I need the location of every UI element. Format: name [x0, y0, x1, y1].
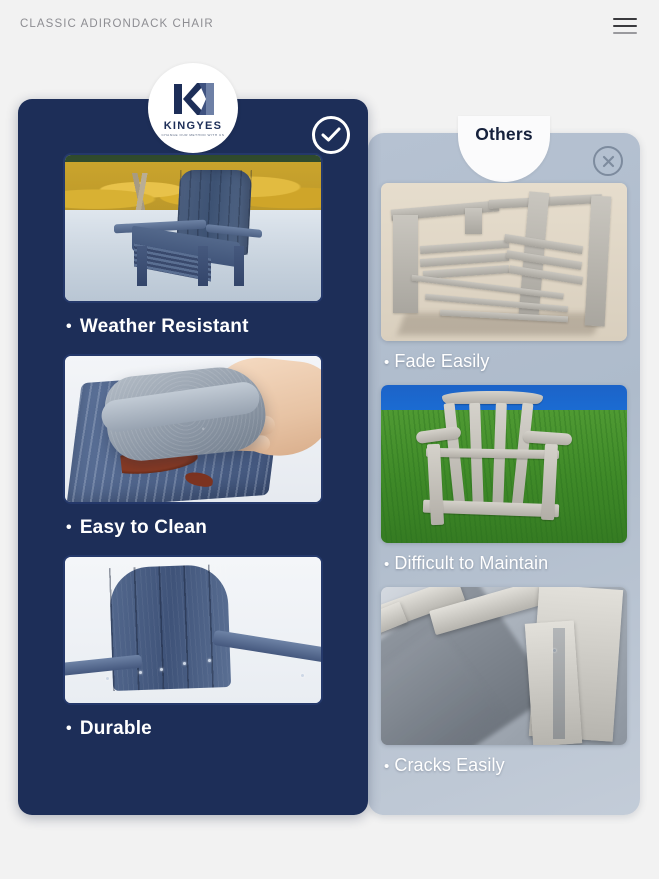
list-item: •Difficult to Maintain	[368, 385, 640, 580]
list-item-label: •Easy to Clean	[18, 504, 368, 551]
weathered-gray-chair-on-grass-photo	[381, 385, 627, 543]
hamburger-line	[613, 18, 637, 20]
hamburger-menu-icon[interactable]	[613, 18, 637, 34]
faded-gray-wooden-chair-on-sand-photo	[381, 183, 627, 341]
cracked-wood-joint-closeup-photo	[381, 587, 627, 745]
others-tab-header: Others	[458, 116, 550, 182]
list-item-label: •Fade Easily	[368, 341, 640, 378]
brand-name: KINGYES	[164, 120, 223, 132]
top-bar: CLASSIC ADIRONDACK CHAIR	[0, 0, 659, 56]
bullet-icon: •	[384, 354, 389, 371]
list-item-label: •Difficult to Maintain	[368, 543, 640, 580]
wiping-spill-with-towel-photo	[63, 354, 323, 504]
bullet-icon: •	[384, 758, 389, 775]
bullet-icon: •	[384, 556, 389, 573]
brand-tagline: CHANGE OUR METHOD WITH US	[162, 133, 225, 137]
adirondack-chair-in-snow-photo	[63, 153, 323, 303]
brand-logo: KINGYES CHANGE OUR METHOD WITH US	[148, 63, 238, 153]
others-tab-label: Others	[475, 124, 533, 145]
page-title: CLASSIC ADIRONDACK CHAIR	[20, 18, 214, 30]
list-item: •Cracks Easily	[368, 587, 640, 782]
blue-chair-backrest-closeup-photo	[63, 555, 323, 705]
check-circle-icon	[312, 116, 350, 154]
list-item: •Fade Easily	[368, 183, 640, 378]
list-item-label: •Weather Resistant	[18, 303, 368, 350]
list-item: •Easy to Clean	[18, 354, 368, 551]
others-panel: Others	[368, 133, 640, 815]
kingyes-feature-list: •Weather Resistant	[18, 153, 368, 756]
bullet-icon: •	[66, 318, 72, 335]
others-drawback-list: •Fade Easily	[368, 183, 640, 789]
bullet-icon: •	[66, 519, 72, 536]
list-item-label: •Durable	[18, 705, 368, 752]
hamburger-line	[613, 25, 637, 27]
comparison-infographic: CLASSIC ADIRONDACK CHAIR Others	[0, 0, 659, 879]
bullet-icon: •	[66, 720, 72, 737]
list-item: •Weather Resistant	[18, 153, 368, 350]
list-item-label: •Cracks Easily	[368, 745, 640, 782]
x-circle-icon	[593, 146, 623, 176]
kingyes-panel: KINGYES CHANGE OUR METHOD WITH US	[18, 99, 368, 815]
list-item: •Durable	[18, 555, 368, 752]
hamburger-line	[613, 32, 637, 34]
kingyes-k-monogram	[166, 79, 220, 119]
